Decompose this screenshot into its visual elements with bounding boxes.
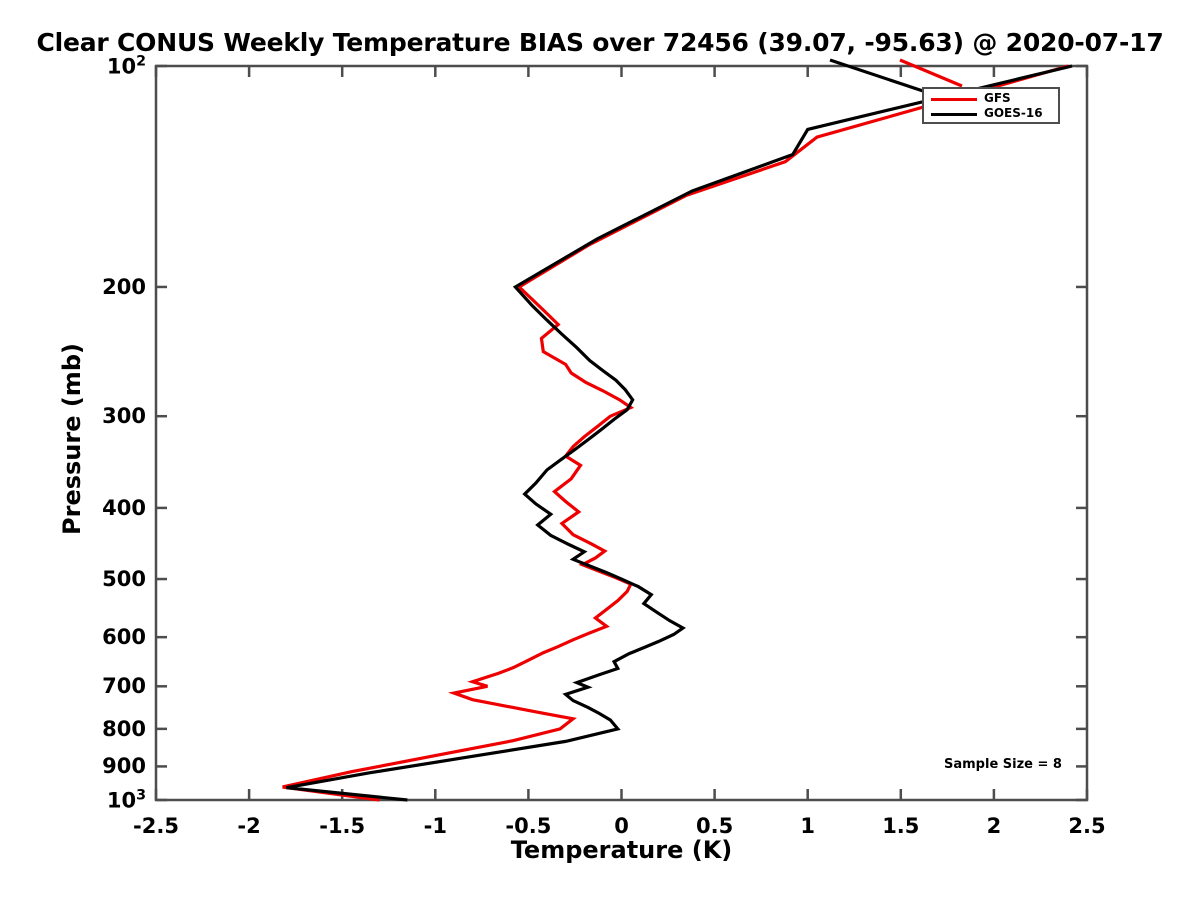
- y-axis-label: Pressure (mb): [58, 309, 86, 569]
- legend-label-gfs: GFS: [984, 91, 1011, 105]
- axes: [156, 66, 1087, 800]
- sample-size-annotation: Sample Size = 8: [944, 757, 1062, 772]
- y-tick-label: 600: [102, 625, 146, 649]
- y-tick-label: 400: [102, 496, 146, 520]
- y-tick-label: 200: [102, 275, 146, 299]
- x-tick-label: 1.5: [882, 814, 919, 838]
- legend-label-goes16: GOES-16: [984, 106, 1043, 120]
- y-tick-label: 800: [102, 717, 146, 741]
- y-tick-label: 300: [102, 404, 146, 428]
- y-tick-label: 102: [107, 54, 146, 79]
- legend-entry-goes16[interactable]: GOES-16: [924, 106, 1058, 123]
- y-tick-label: 500: [102, 567, 146, 591]
- series-line-gfs: [283, 66, 1069, 800]
- x-tick-label: -0.5: [505, 814, 551, 838]
- y-tick-label: 103: [107, 788, 146, 813]
- legend-leader-line: [900, 60, 962, 86]
- series-line-goes-16: [286, 66, 1072, 800]
- data-series-group: [283, 60, 1072, 800]
- x-tick-label: 0.5: [696, 814, 733, 838]
- chart-figure: Clear CONUS Weekly Temperature BIAS over…: [0, 0, 1200, 900]
- x-tick-label: 2.5: [1068, 814, 1105, 838]
- y-tick-label: 700: [102, 674, 146, 698]
- y-tick-label: 900: [102, 754, 146, 778]
- x-tick-label: 2: [987, 814, 1002, 838]
- chart-legend[interactable]: GFS GOES-16: [922, 87, 1060, 124]
- axes-frame: [156, 66, 1087, 800]
- legend-swatch-gfs: [931, 98, 977, 101]
- x-tick-label: -2: [237, 814, 260, 838]
- x-tick-label: 1: [800, 814, 815, 838]
- x-tick-label: -1: [424, 814, 447, 838]
- x-tick-label: 0: [614, 814, 629, 838]
- x-axis-label: Temperature (K): [156, 836, 1087, 864]
- x-tick-label: -2.5: [133, 814, 179, 838]
- x-tick-label: -1.5: [319, 814, 365, 838]
- legend-swatch-goes16: [931, 113, 977, 116]
